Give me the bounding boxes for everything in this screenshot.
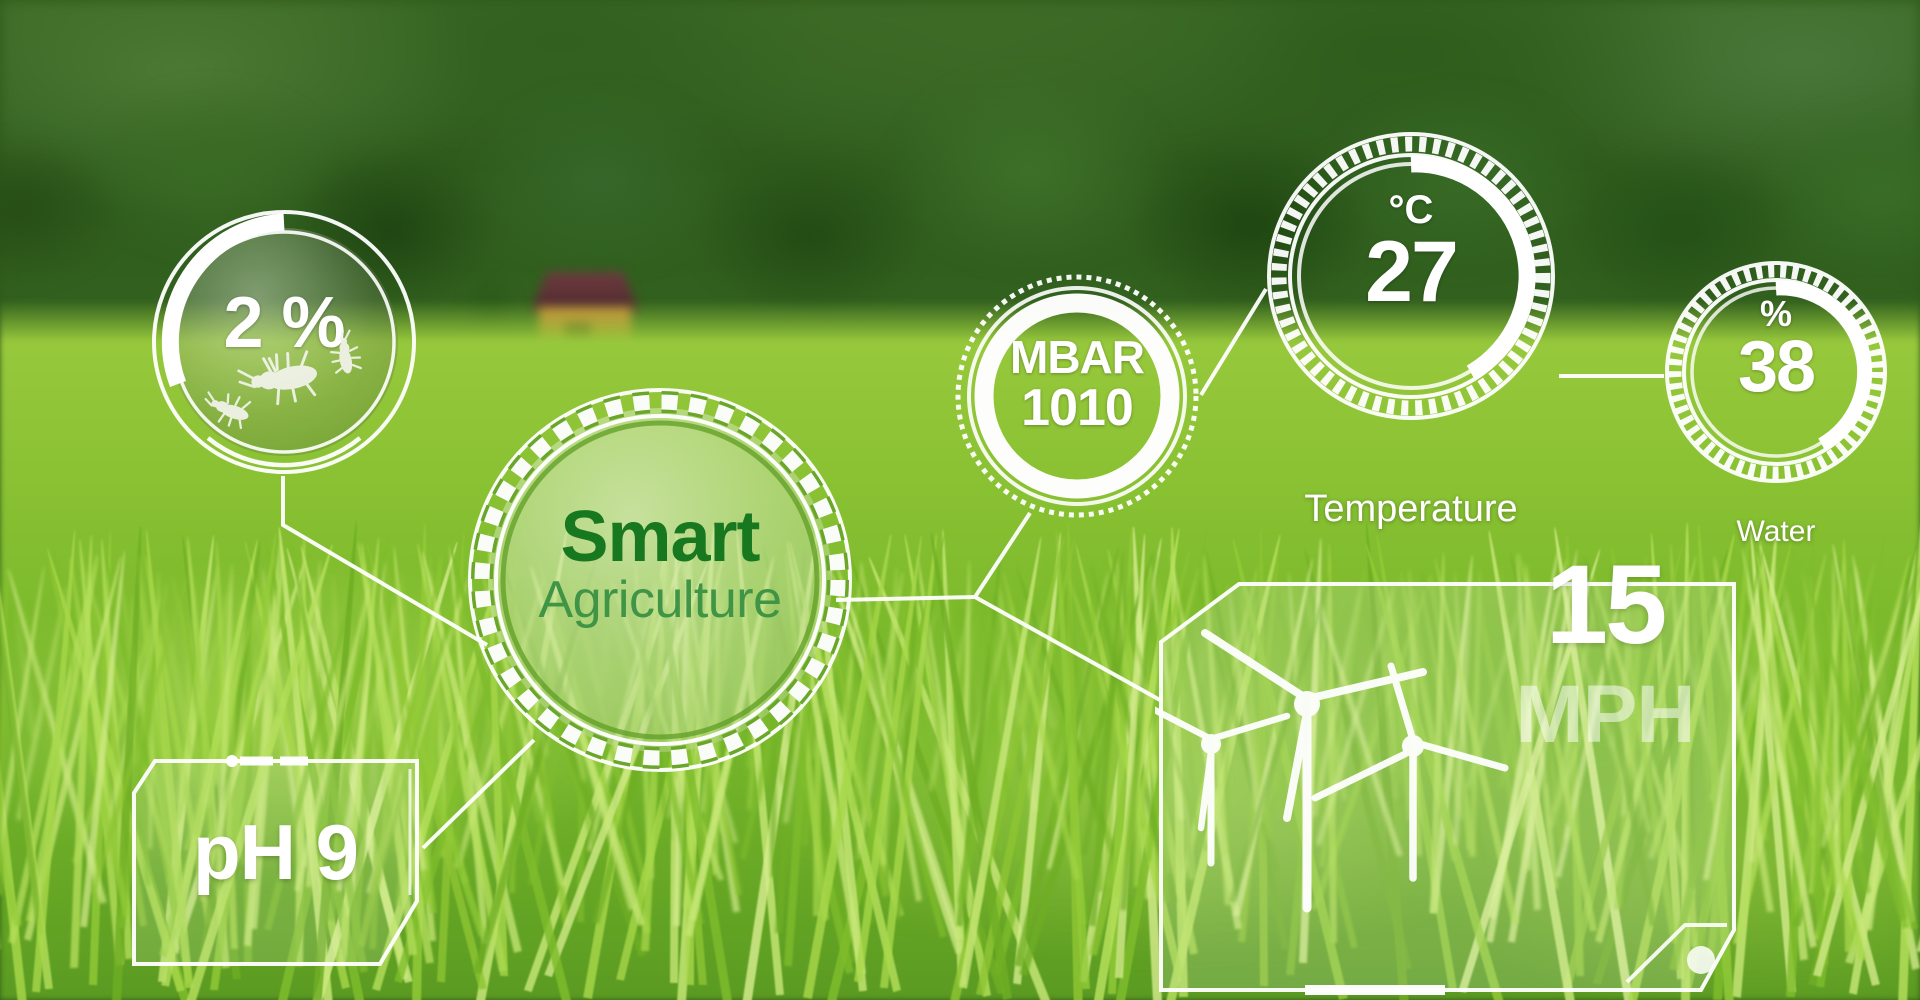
- insect-icon-group: [148, 206, 420, 478]
- wind-panel[interactable]: 15 MPH: [1155, 578, 1740, 996]
- badge-text: Smart Agriculture: [460, 502, 860, 627]
- temperature-caption: Temperature: [1253, 488, 1569, 531]
- smart-agriculture-badge[interactable]: Smart Agriculture: [460, 380, 860, 780]
- wind-turbine-icon: [1155, 706, 1287, 863]
- insect-icon: [327, 329, 363, 376]
- temperature-value: 27: [1263, 230, 1559, 314]
- wind-value: 15: [1485, 540, 1725, 669]
- pressure-gauge[interactable]: MBAR 1010: [953, 272, 1201, 520]
- pressure-gauge-text: MBAR 1010: [953, 334, 1201, 436]
- ph-value: pH 9: [128, 807, 423, 898]
- brand-line-2: Agriculture: [460, 573, 860, 628]
- ph-panel-indicator-dot: [226, 755, 238, 767]
- connector-pest-to-core: [283, 476, 487, 645]
- temperature-gauge-text: °C 27: [1263, 190, 1559, 314]
- pest-gauge[interactable]: 2 %: [148, 206, 420, 478]
- wind-unit: MPH: [1485, 668, 1725, 762]
- wind-panel-indicator-dot: [1687, 946, 1715, 974]
- ph-panel[interactable]: pH 9: [128, 755, 423, 970]
- connector-junction-to-wind: [975, 597, 1160, 700]
- wind-turbine-icon-group: [1155, 633, 1505, 908]
- connector-junction-to-pressure: [975, 513, 1030, 597]
- water-gauge-text: % 38: [1662, 296, 1890, 403]
- brand-line-1: Smart: [460, 502, 860, 573]
- wind-turbine-icon: [1315, 666, 1505, 878]
- pressure-unit: MBAR: [953, 334, 1201, 381]
- water-gauge[interactable]: % 38: [1662, 258, 1890, 486]
- water-value: 38: [1662, 332, 1890, 403]
- connector-pressure-to-temperature: [1201, 289, 1266, 395]
- insect-icon: [200, 387, 253, 430]
- hud-overlay: 2 %: [0, 0, 1920, 1000]
- temperature-gauge[interactable]: °C 27: [1263, 128, 1559, 424]
- pressure-value: 1010: [953, 381, 1201, 436]
